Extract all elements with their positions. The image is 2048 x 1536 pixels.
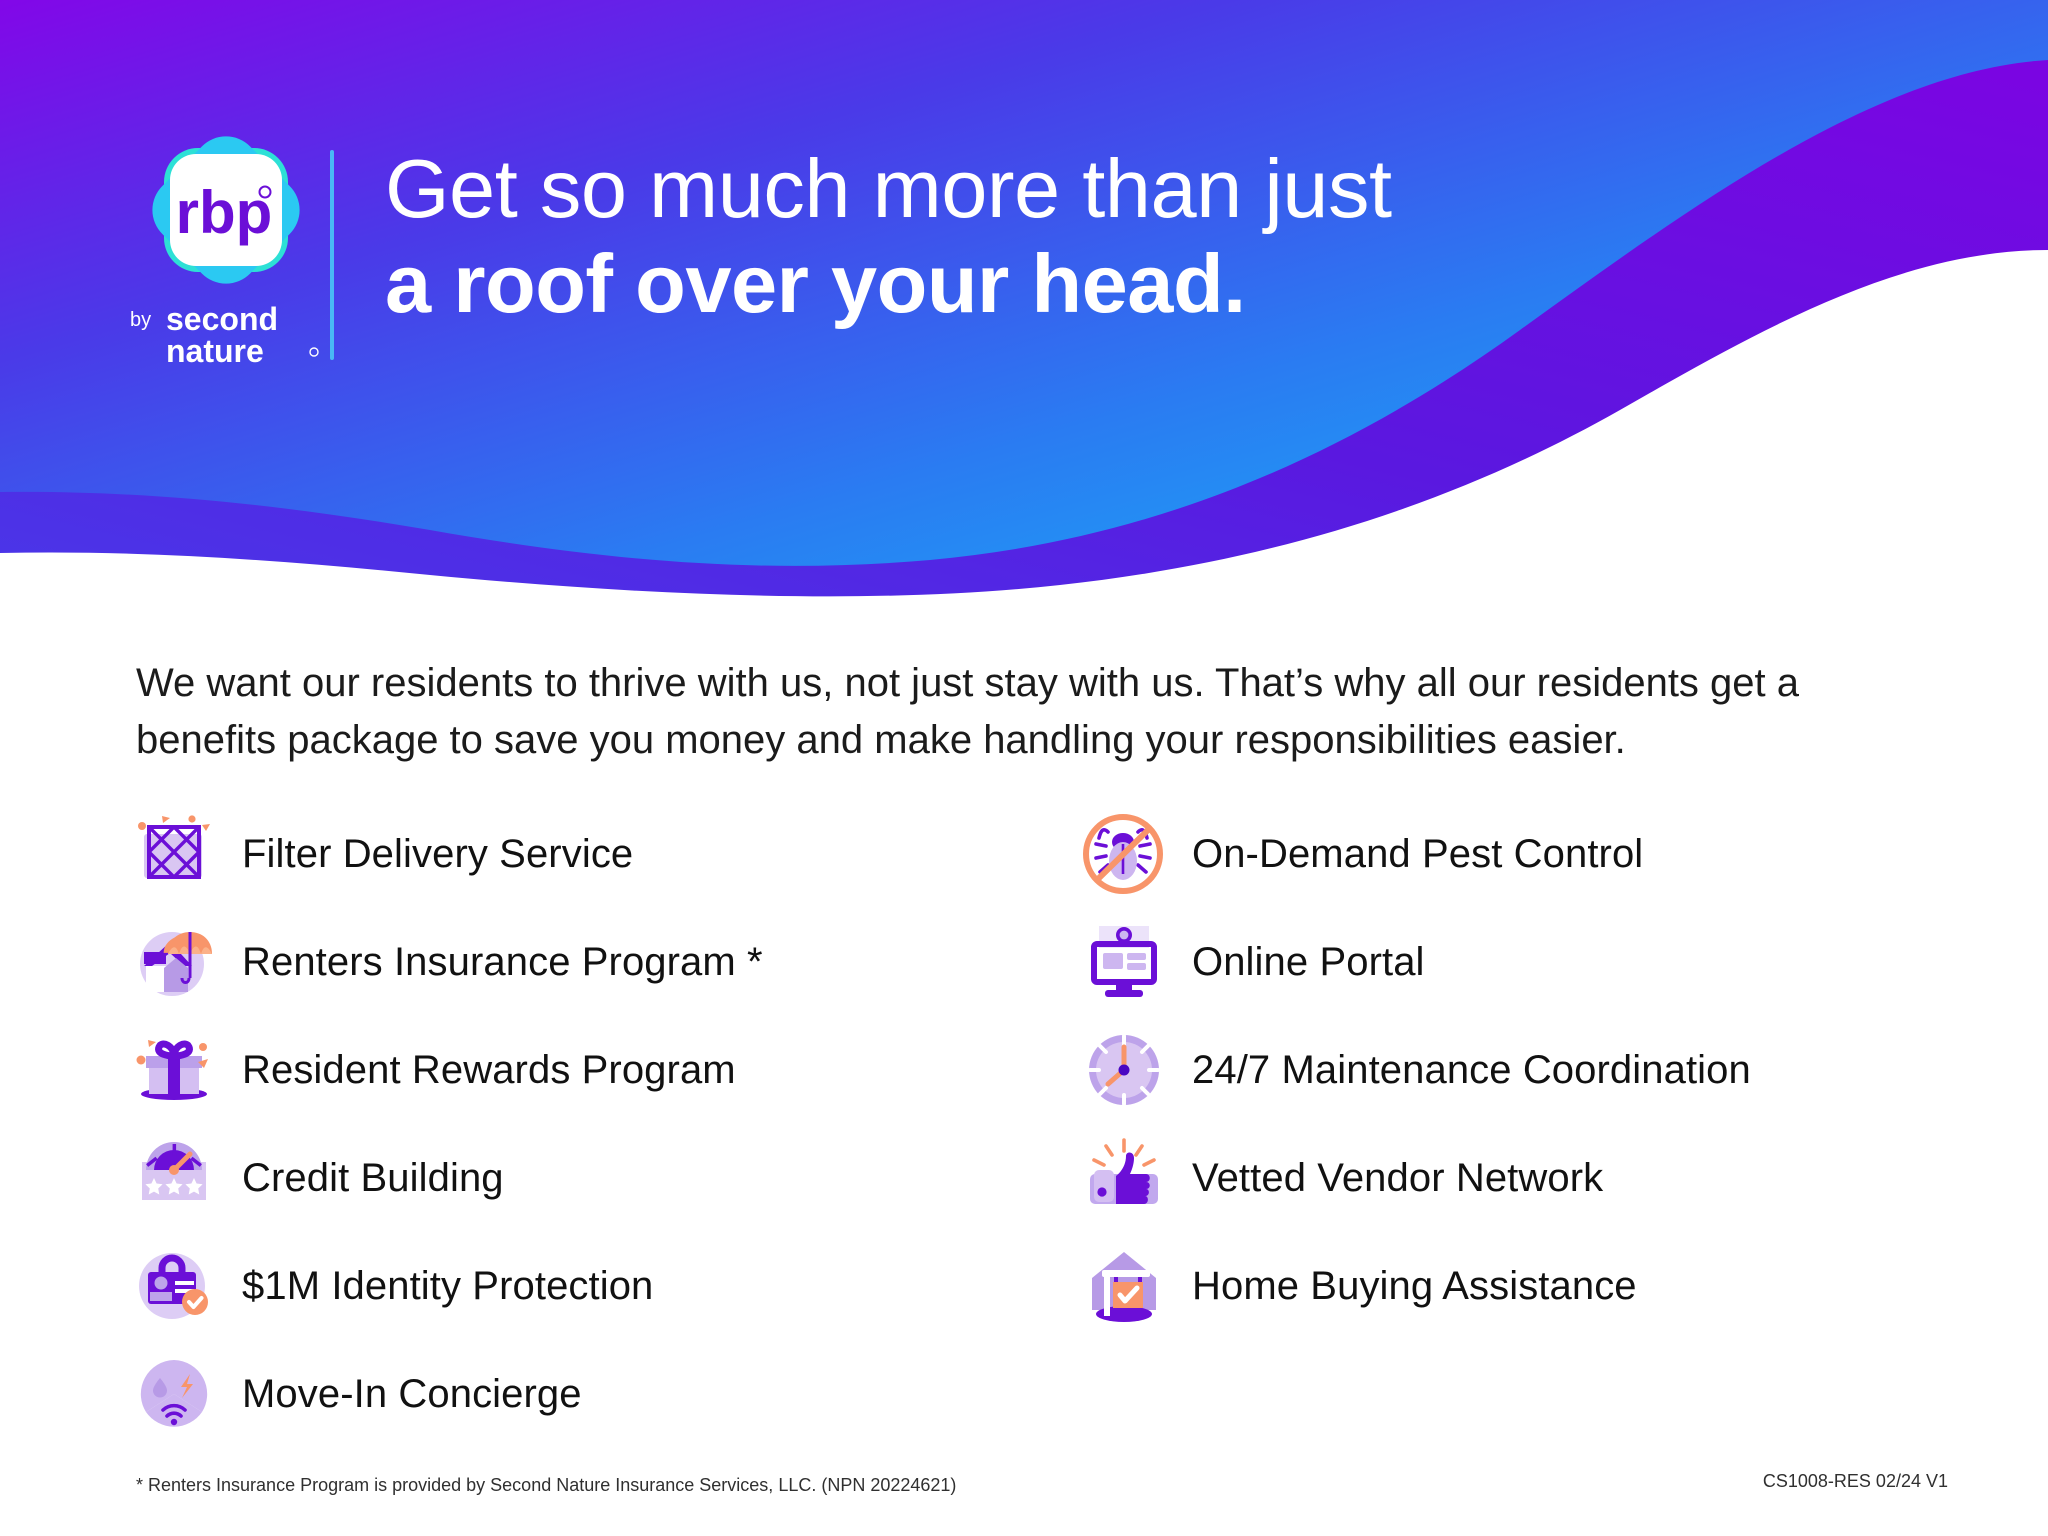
clock-icon [1082,1028,1166,1112]
brand-logo: rbp by second nature [128,130,338,370]
benefit-item-maintenance-coordination: 24/7 Maintenance Coordination [1082,1016,1922,1124]
benefit-label: $1M Identity Protection [242,1264,653,1309]
byline-second: second [166,301,278,337]
gift-icon [132,1028,216,1112]
byline-nature: nature [166,333,264,369]
benefit-label: On-Demand Pest Control [1192,832,1643,877]
header-divider [330,150,334,360]
thumbs-up-icon [1082,1136,1166,1220]
second-nature-wordmark: by second nature [128,300,328,370]
benefits-column-right: On-Demand Pest Control Online [1082,800,1922,1448]
benefit-item-renters-insurance-program: Renters Insurance Program * [132,908,1082,1016]
intro-paragraph: We want our residents to thrive with us,… [136,655,1926,769]
benefit-item-resident-rewards-program: Resident Rewards Program [132,1016,1082,1124]
umbrella-house-icon [132,920,216,1004]
benefits-list: Filter Delivery Service [132,800,1922,1448]
benefit-label: Renters Insurance Program * [242,940,763,985]
legal-footnote: * Renters Insurance Program is provided … [136,1475,956,1496]
benefit-item-home-buying-assistance: Home Buying Assistance [1082,1232,1922,1340]
page-title: Get so much more than just a roof over y… [385,148,1392,325]
house-sign-icon [1082,1244,1166,1328]
benefit-label: Online Portal [1192,940,1425,985]
benefit-label: Home Buying Assistance [1192,1264,1637,1309]
benefit-item-vetted-vendor-network: Vetted Vendor Network [1082,1124,1922,1232]
headline-line-1: Get so much more than just [385,148,1392,229]
benefit-item-credit-building: Credit Building [132,1124,1082,1232]
benefit-label: Resident Rewards Program [242,1048,736,1093]
benefit-label: Credit Building [242,1156,504,1201]
benefit-label: Move-In Concierge [242,1372,582,1417]
id-badge-icon [132,1244,216,1328]
benefit-item-identity-protection: $1M Identity Protection [132,1232,1082,1340]
benefit-label: Filter Delivery Service [242,832,633,877]
benefit-label: Vetted Vendor Network [1192,1156,1603,1201]
document-code: CS1008-RES 02/24 V1 [1763,1471,1948,1492]
byline-by: by [130,309,151,331]
credit-gauge-icon [132,1136,216,1220]
rbp-logo-text: rbp [176,179,273,246]
header-banner: rbp by second nature Get so much more th… [0,0,2048,600]
benefit-item-move-in-concierge: Move-In Concierge [132,1340,1082,1448]
monitor-icon [1082,920,1166,1004]
benefit-item-filter-delivery-service: Filter Delivery Service [132,800,1082,908]
rbp-logo-icon: rbp [146,130,306,290]
benefit-item-online-portal: Online Portal [1082,908,1922,1016]
utilities-icon [132,1352,216,1436]
benefits-column-left: Filter Delivery Service [132,800,1082,1448]
benefit-label: 24/7 Maintenance Coordination [1192,1048,1751,1093]
headline-line-2: a roof over your head. [385,243,1392,324]
benefit-item-on-demand-pest-control: On-Demand Pest Control [1082,800,1922,908]
filter-icon [132,812,216,896]
no-pest-icon [1082,812,1166,896]
